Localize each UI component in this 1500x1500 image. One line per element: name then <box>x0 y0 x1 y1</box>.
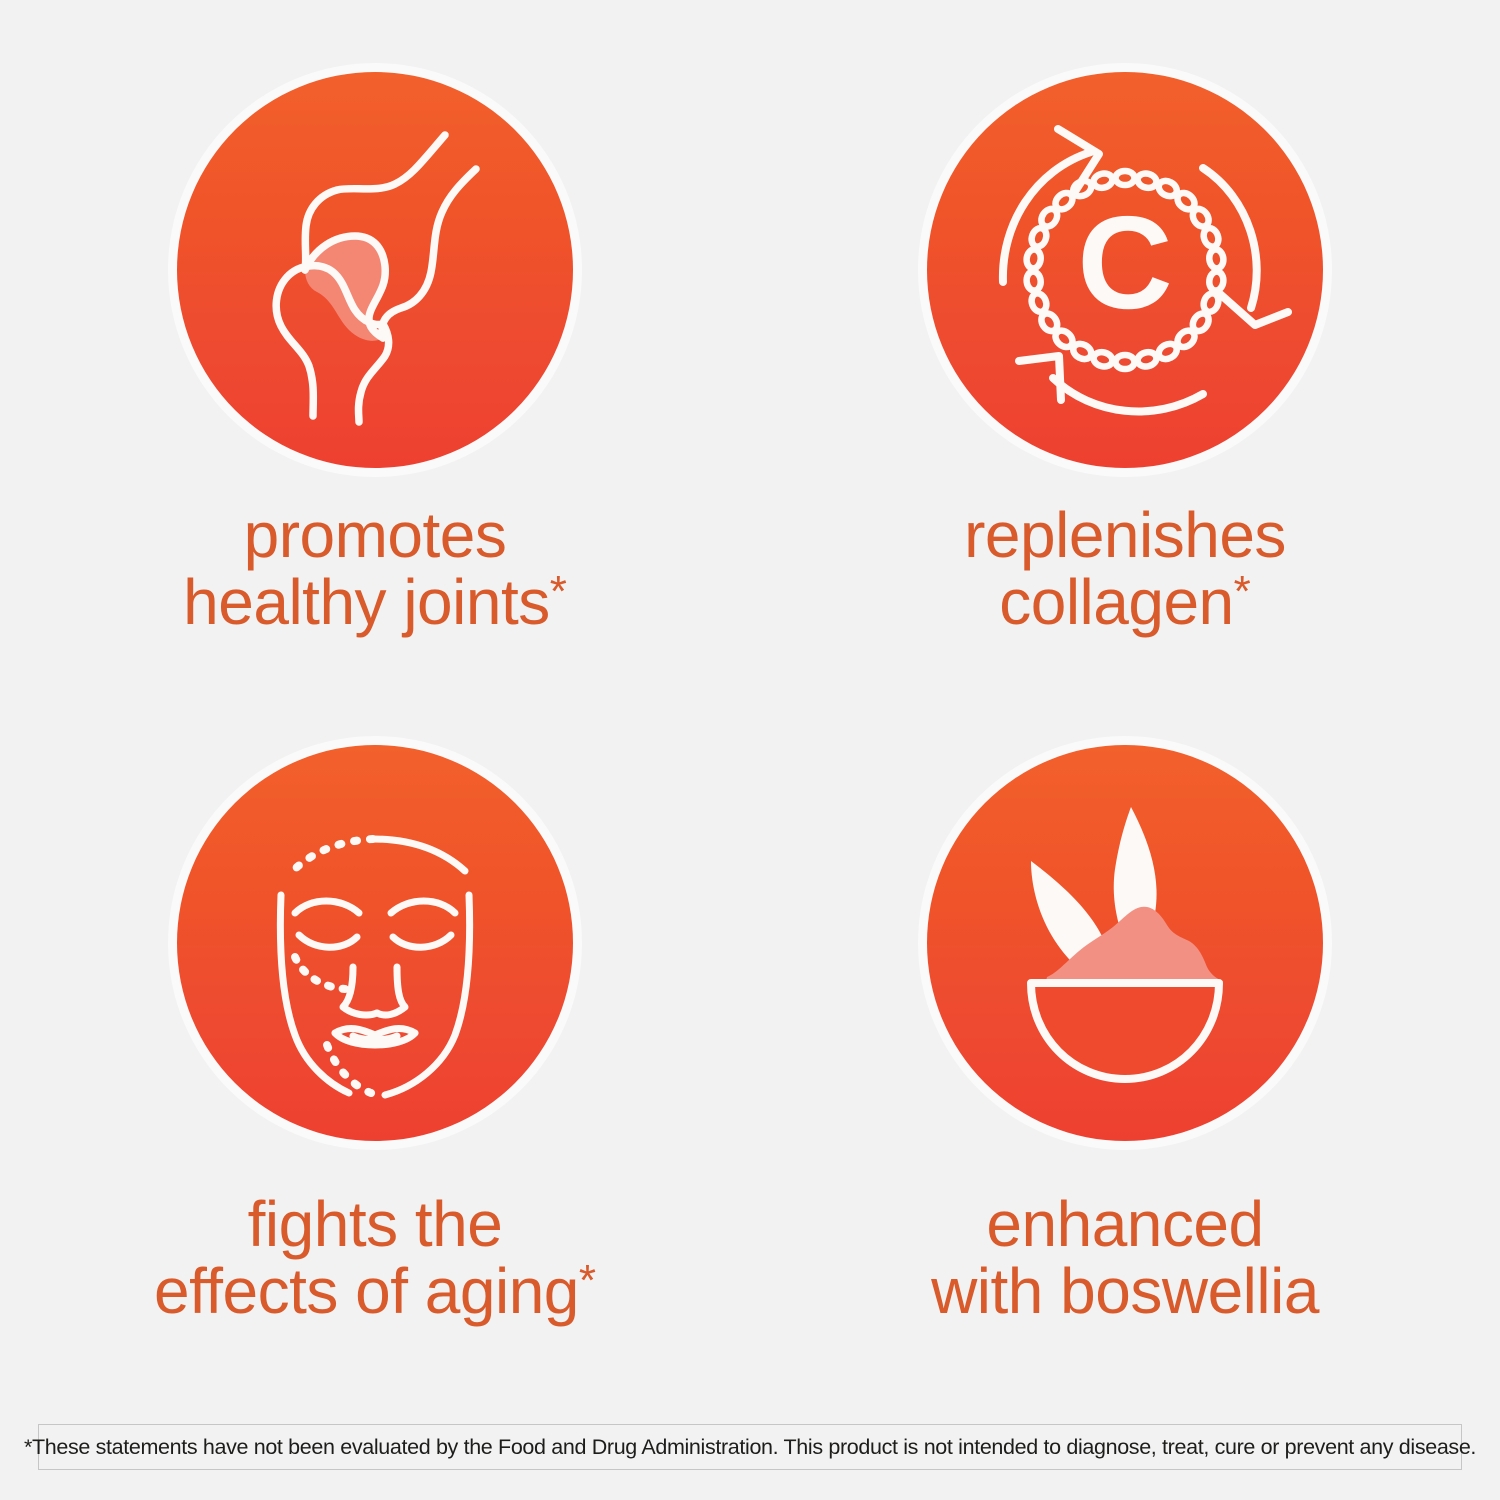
collagen-bead <box>1029 291 1049 314</box>
collagen-bead <box>1026 249 1042 270</box>
collagen-bead <box>1116 171 1135 185</box>
benefit-card-boswellia: enhanced with boswellia <box>750 700 1500 1400</box>
hairline-dotted <box>289 839 373 875</box>
collagen-bead <box>1208 249 1224 270</box>
eye-right-closed <box>393 935 451 947</box>
benefit-label-text: enhanced with boswellia <box>931 1188 1319 1327</box>
collagen-bead <box>1092 350 1114 368</box>
benefit-label-aging: fights the effects of aging* <box>154 1191 596 1324</box>
benefit-label-text: promotes healthy joints <box>183 499 550 638</box>
tibia-left-contour <box>276 277 313 416</box>
eyebrow-right <box>391 901 455 913</box>
bowl-shape <box>1031 983 1219 1079</box>
nose-left <box>343 967 377 1015</box>
benefit-label-text: fights the effects of aging <box>154 1188 579 1327</box>
asterisk-marker: * <box>550 567 567 616</box>
herb-bowl-icon <box>927 745 1323 1141</box>
benefits-grid: promotes healthy joints* <box>0 0 1500 1400</box>
collagen-bead <box>1208 271 1224 292</box>
benefit-label-boswellia: enhanced with boswellia <box>931 1191 1319 1324</box>
benefit-label-collagen: replenishes collagen* <box>964 502 1286 635</box>
disclaimer-text: *These statements have not been evaluate… <box>24 1435 1476 1460</box>
collagen-bead <box>1026 271 1042 292</box>
letter-c-glyph: C <box>1077 189 1172 336</box>
collagen-bead <box>1136 350 1158 368</box>
benefit-label-joints: promotes healthy joints* <box>183 502 567 635</box>
collagen-bead <box>1136 172 1158 190</box>
arrow-arc-bottom <box>1053 378 1203 411</box>
asterisk-marker: * <box>579 1256 596 1305</box>
cheek-wrinkle-dotted <box>295 957 345 989</box>
femur-right-contour <box>382 169 476 338</box>
collagen-bead <box>1201 226 1221 249</box>
nose-right <box>377 967 405 1015</box>
face-wrinkles-icon <box>177 745 573 1141</box>
lip-line <box>353 1036 397 1040</box>
vitamin-c-recycle-icon: C <box>927 72 1323 468</box>
benefit-card-aging: fights the effects of aging* <box>0 700 750 1400</box>
knee-joint-icon <box>177 72 573 468</box>
hairline-solid <box>373 839 465 871</box>
asterisk-marker: * <box>1234 567 1251 616</box>
disclaimer-box: *These statements have not been evaluate… <box>38 1424 1462 1470</box>
eyebrow-left <box>295 901 359 913</box>
lip-upper <box>335 1029 415 1035</box>
benefit-card-joints: promotes healthy joints* <box>0 0 750 700</box>
collagen-bead <box>1116 355 1135 369</box>
eye-left-closed <box>299 935 357 947</box>
benefit-card-collagen: C replenishes collagen* <box>750 0 1500 700</box>
collagen-bead <box>1092 172 1114 190</box>
